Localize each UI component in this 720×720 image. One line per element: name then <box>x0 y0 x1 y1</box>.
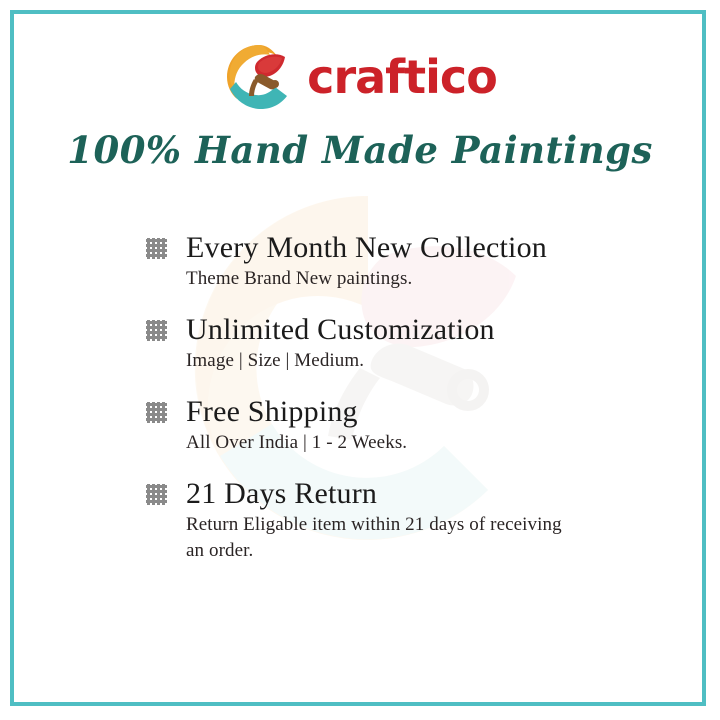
list-item: 21 Days Return Return Eligable item with… <box>146 478 646 564</box>
woven-grid-square-bullet-icon <box>146 402 168 423</box>
feature-title: Unlimited Customization <box>186 314 646 346</box>
woven-grid-square-bullet-icon <box>146 484 168 505</box>
feature-subtitle: Return Eligable item within 21 days of r… <box>186 512 566 563</box>
brand-wordmark: craftico <box>307 54 497 100</box>
feature-title: Free Shipping <box>186 396 646 428</box>
page-title: 100% Hand Made Paintings <box>0 128 720 172</box>
feature-title: Every Month New Collection <box>186 232 646 264</box>
feature-title: 21 Days Return <box>186 478 646 510</box>
feature-subtitle: Image | Size | Medium. <box>186 348 566 374</box>
list-item: Free Shipping All Over India | 1 - 2 Wee… <box>146 396 646 456</box>
feature-subtitle: All Over India | 1 - 2 Weeks. <box>186 430 566 456</box>
craftico-logo-icon <box>223 39 291 111</box>
list-item: Every Month New Collection Theme Brand N… <box>146 232 646 292</box>
list-item: Unlimited Customization Image | Size | M… <box>146 314 646 374</box>
feature-list: Every Month New Collection Theme Brand N… <box>146 232 646 564</box>
feature-subtitle: Theme Brand New paintings. <box>186 266 566 292</box>
woven-grid-square-bullet-icon <box>146 238 168 259</box>
woven-grid-square-bullet-icon <box>146 320 168 341</box>
brand-logo: craftico <box>0 36 720 114</box>
promo-banner: craftico 100% Hand Made Paintings <box>0 0 720 720</box>
